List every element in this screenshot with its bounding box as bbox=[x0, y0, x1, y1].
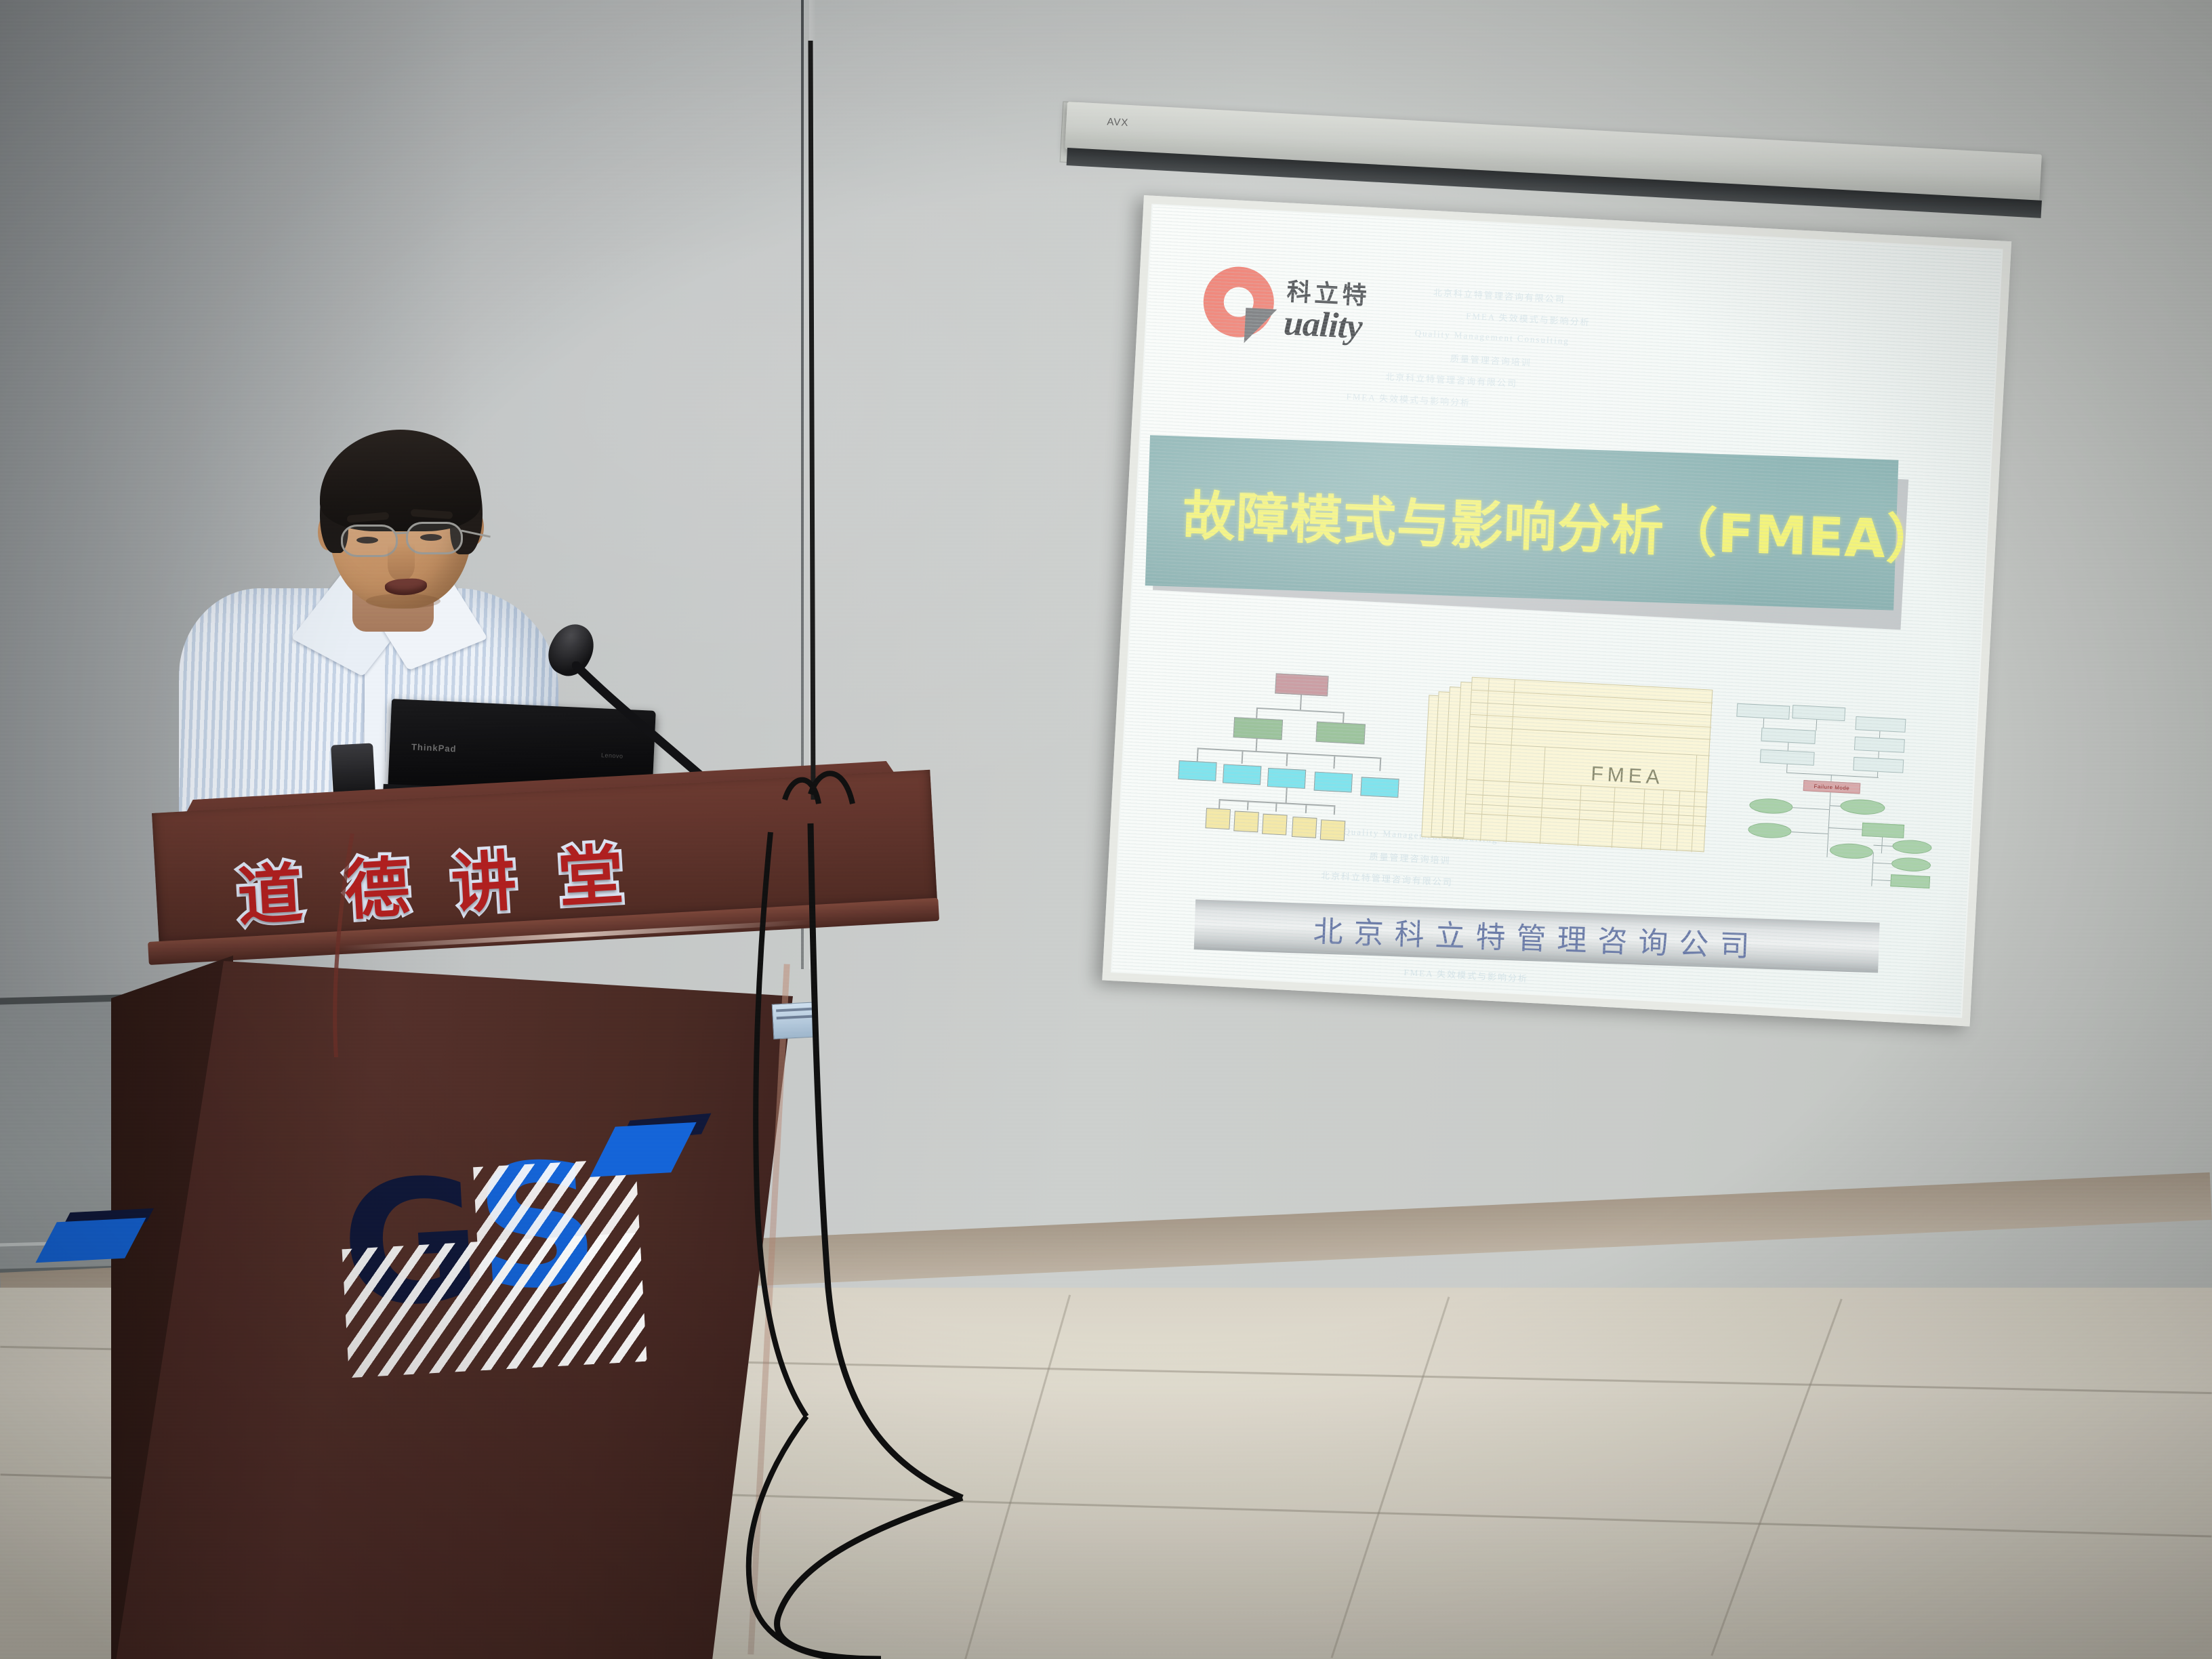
tree-node-level4 bbox=[1233, 811, 1259, 832]
tree-connector bbox=[1218, 799, 1221, 808]
q-triangle-icon bbox=[1244, 308, 1277, 344]
chin-shadow bbox=[366, 594, 441, 609]
lectern-brand-logo: G S bbox=[336, 1130, 674, 1371]
flow-box bbox=[1856, 716, 1906, 733]
flow-green-box bbox=[1862, 823, 1904, 838]
slide-watermark-line: FMEA 失效模式与影响分析 bbox=[1404, 965, 1528, 985]
slide-watermark-line: Quality Management Consulting bbox=[1414, 328, 1570, 347]
fmea-sheet-front: FMEA bbox=[1463, 677, 1713, 853]
tree-node-level3 bbox=[1360, 777, 1399, 798]
tree-connector bbox=[1242, 750, 1244, 764]
tree-node-level2 bbox=[1315, 722, 1365, 745]
tree-node-level4 bbox=[1262, 814, 1288, 836]
laptop-brand-label: ThinkPad bbox=[411, 741, 457, 754]
brand-letter-g: G bbox=[337, 1155, 485, 1332]
lectern-sign-char: 道 bbox=[236, 861, 304, 929]
flow-ellipse bbox=[1892, 839, 1932, 855]
fmea-center-label: FMEA bbox=[1591, 762, 1664, 790]
brand-letter-s: S bbox=[472, 1139, 603, 1315]
tree-node-level4 bbox=[1320, 819, 1346, 841]
presenter-hair bbox=[320, 430, 481, 531]
lectern-sign-char: 德 bbox=[343, 855, 411, 923]
flow-box bbox=[1761, 728, 1816, 744]
slide-footer-band: 北京科立特管理咨询公司 bbox=[1194, 899, 1880, 972]
slide-title-band: 故障模式与影响分析（FMEA） bbox=[1145, 435, 1899, 611]
flow-box bbox=[1854, 737, 1905, 753]
lectern-sign-char: 堂 bbox=[556, 842, 625, 911]
tree-connector bbox=[1247, 800, 1249, 810]
housing-brand-label: AVX bbox=[1107, 116, 1129, 129]
flow-box bbox=[1792, 705, 1845, 721]
flow-ellipse bbox=[1749, 798, 1793, 815]
floor-tile-seam bbox=[1331, 1296, 1450, 1658]
tree-connector bbox=[1256, 708, 1258, 718]
flow-box bbox=[1853, 757, 1904, 773]
slide-footer-text: 北京科立特管理咨询公司 bbox=[1313, 907, 1761, 965]
floor-tile-seam bbox=[964, 1294, 1071, 1659]
lectern-sign-char: 讲 bbox=[449, 848, 518, 917]
tree-node-level3 bbox=[1178, 760, 1216, 781]
tree-connector bbox=[1379, 758, 1381, 771]
tree-node-level3 bbox=[1223, 764, 1261, 785]
tree-node-level4 bbox=[1292, 817, 1317, 838]
tree-connector bbox=[1343, 712, 1345, 723]
slide-canvas: 北京科立特管理咨询有限公司 FMEA 失效模式与影响分析 Quality Man… bbox=[1112, 205, 2001, 1017]
projection-screen[interactable]: 北京科立特管理咨询有限公司 FMEA 失效模式与影响分析 Quality Man… bbox=[1102, 195, 2011, 1027]
logo-english-text: uality bbox=[1283, 303, 1363, 347]
slide-title: 故障模式与影响分析（FMEA） bbox=[1147, 472, 1942, 575]
tree-connector bbox=[1300, 695, 1302, 710]
tree-connector bbox=[1334, 805, 1336, 815]
tree-node-level3 bbox=[1314, 772, 1353, 793]
failure-mode-flow-diagram: Failure Mode bbox=[1728, 698, 1933, 884]
flow-ellipse bbox=[1891, 857, 1931, 872]
floor-tile-seam bbox=[1711, 1298, 1842, 1656]
flow-accent-bar: Failure Mode bbox=[1803, 780, 1861, 794]
slide-diagram-row: FMEA bbox=[1118, 659, 1978, 914]
tree-connector bbox=[1286, 752, 1288, 766]
lecture-hall-photo: AVX 北京科立特管理咨询有限公司 FMEA 失效模式与影响分析 Quality… bbox=[0, 0, 2212, 1659]
tree-connector bbox=[1197, 747, 1382, 758]
fmea-form-stack: FMEA bbox=[1420, 674, 1701, 872]
flow-box bbox=[1736, 703, 1790, 720]
slide-watermark-line: 北京科立特管理咨询有限公司 bbox=[1385, 369, 1518, 389]
tree-node-level3 bbox=[1267, 768, 1306, 789]
flow-green-box bbox=[1890, 874, 1930, 888]
slide-watermark-line: FMEA 失效模式与影响分析 bbox=[1346, 389, 1471, 409]
tree-connector bbox=[1197, 747, 1199, 761]
slide-watermark-line: 质量管理咨询培训 bbox=[1450, 351, 1532, 368]
tree-connector bbox=[1333, 755, 1335, 769]
lectern-inventory-sticker bbox=[772, 1002, 819, 1039]
flow-ellipse bbox=[1748, 822, 1792, 839]
tree-connector bbox=[1256, 739, 1258, 751]
tree-connector bbox=[1305, 804, 1307, 813]
tree-node-level4 bbox=[1205, 808, 1231, 829]
flow-box bbox=[1760, 750, 1815, 766]
flow-ellipse bbox=[1829, 842, 1873, 859]
tree-node-level2 bbox=[1233, 717, 1283, 740]
slide-logo: 科立特 uality bbox=[1200, 262, 1435, 369]
slide-watermark-line: FMEA 失效模式与影响分析 bbox=[1466, 309, 1591, 329]
flow-ellipse bbox=[1840, 798, 1885, 815]
tree-connector bbox=[1275, 802, 1277, 812]
tree-root-node bbox=[1275, 673, 1328, 696]
lectern: 道 德 讲 堂 G S bbox=[136, 786, 962, 1659]
hierarchy-tree-diagram bbox=[1201, 670, 1420, 850]
presenter-nose bbox=[388, 544, 415, 580]
tree-connector bbox=[1286, 787, 1288, 802]
slide-watermark-line: 北京科立特管理咨询有限公司 bbox=[1433, 285, 1566, 305]
